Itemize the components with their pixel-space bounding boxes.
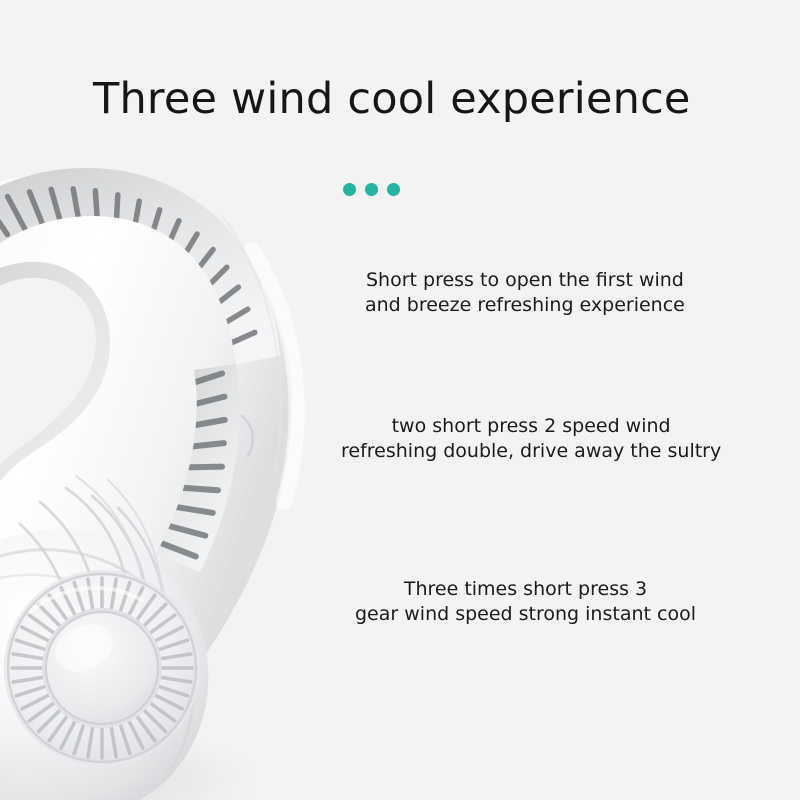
feature-1-line-1: Short press to open the first wind <box>365 268 685 293</box>
decorative-dots <box>343 183 400 196</box>
feature-text-third-gear: Three times short press 3 gear wind spee… <box>355 577 696 627</box>
dot-1 <box>343 183 356 196</box>
feature-2-line-2: refreshing double, drive away the sultry <box>341 439 721 464</box>
fan-grille-outer <box>8 574 196 762</box>
fan-hub-cap <box>46 612 158 724</box>
feature-text-second-speed: two short press 2 speed wind refreshing … <box>341 414 721 464</box>
dot-2 <box>365 183 378 196</box>
feature-1-line-2: and breeze refreshing experience <box>365 293 685 318</box>
feature-3-line-1: Three times short press 3 <box>355 577 696 602</box>
air-vent-slots-side <box>149 370 228 581</box>
dot-3 <box>387 183 400 196</box>
product-feature-page: Three wind cool experience Short press t… <box>0 0 800 800</box>
feature-text-first-wind: Short press to open the first wind and b… <box>365 268 685 318</box>
feature-3-line-2: gear wind speed strong instant cool <box>355 602 696 627</box>
housing-swirl-grooves <box>20 488 166 632</box>
fan-hub-ring <box>42 608 162 728</box>
air-vent-slots-top <box>0 186 258 353</box>
page-title: Three wind cool experience <box>93 74 691 124</box>
band-crease-detail <box>242 416 253 456</box>
fan-housing <box>0 529 208 800</box>
fan-grille-slots <box>12 578 192 758</box>
feature-2-line-1: two short press 2 speed wind <box>341 414 721 439</box>
